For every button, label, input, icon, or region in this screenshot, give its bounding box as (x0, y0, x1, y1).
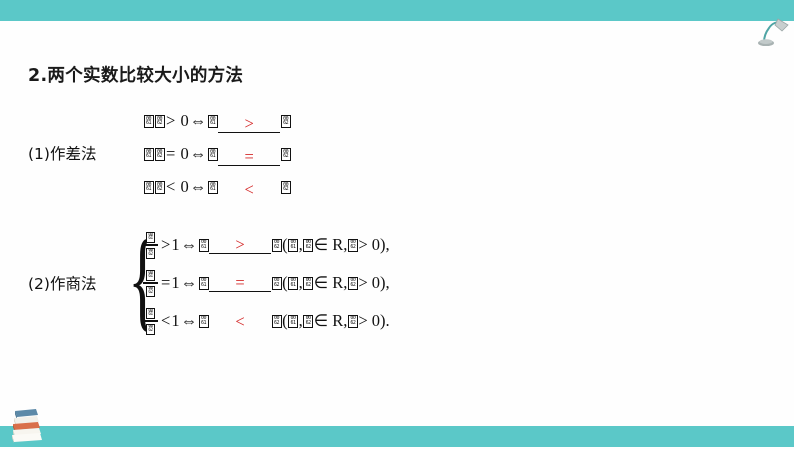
comma: , (343, 264, 347, 302)
relation-operator: < (166, 177, 175, 196)
comma: , (343, 302, 347, 340)
variable-glyph-b (146, 248, 155, 259)
rhs-value: 1 (171, 226, 179, 264)
variable-glyph-b (155, 148, 165, 161)
rhs-value: 1 (171, 264, 179, 302)
variable-glyph-b (146, 286, 155, 297)
variable-glyph-b (146, 324, 155, 335)
paren-open: ( (282, 264, 288, 302)
iff-operator: ⇔ (181, 302, 198, 340)
set-reals: R (332, 264, 343, 302)
rhs-value: 0 (180, 144, 188, 163)
iff-operator: ⇔ (190, 144, 207, 163)
comma: , (299, 264, 303, 302)
variable-glyph-a (288, 239, 298, 252)
formula-row: < 0⇔< (143, 176, 291, 209)
fraction-a-over-b (143, 307, 158, 335)
comma: , (299, 302, 303, 340)
fraction-rule (143, 282, 158, 284)
section-label-difference-method: (1)作差法 (28, 142, 96, 164)
formula-row: > 0⇔> (143, 110, 291, 143)
variable-glyph-b (272, 315, 282, 328)
variable-glyph-b (281, 115, 291, 128)
punctuation: . (386, 302, 390, 340)
variable-glyph-a (199, 239, 209, 252)
rhs-value: 0 (180, 177, 188, 196)
relation-operator: > (358, 226, 367, 264)
answer-blank[interactable]: = (209, 274, 271, 292)
variable-glyph-b (155, 115, 165, 128)
desk-lamp-icon (756, 6, 790, 46)
variable-glyph-a (144, 115, 154, 128)
fraction-a-over-b (143, 231, 158, 259)
stacked-books-icon (8, 402, 50, 444)
variable-glyph-b (272, 239, 282, 252)
member-symbol: ∈ (314, 302, 328, 340)
relation-operator: > (358, 302, 367, 340)
iff-operator: ⇔ (181, 264, 198, 302)
variable-glyph-a (146, 232, 155, 243)
punctuation: , (386, 264, 390, 302)
variable-glyph-b (303, 239, 313, 252)
fraction-rule (143, 320, 158, 322)
iff-operator: ⇔ (190, 111, 207, 130)
comma: , (343, 226, 347, 264)
variable-glyph-b (303, 315, 313, 328)
zero-value: 0 (372, 226, 380, 264)
relation-operator: > (166, 111, 175, 130)
variable-glyph-a (146, 270, 155, 281)
variable-glyph-b (155, 181, 165, 194)
rhs-value: 1 (171, 302, 179, 340)
answer-blank[interactable]: > (209, 236, 271, 254)
paren-open: ( (282, 302, 288, 340)
fraction-a-over-b (143, 269, 158, 297)
variable-glyph-a (144, 181, 154, 194)
formula-row: = 1⇔=(,∈ R,> 0), (143, 264, 390, 302)
variable-glyph-a (208, 148, 218, 161)
iff-operator: ⇔ (190, 177, 207, 196)
variable-glyph-b (272, 277, 282, 290)
iff-operator: ⇔ (181, 226, 198, 264)
answer-blank[interactable]: < (209, 313, 271, 330)
variable-glyph-a (288, 315, 298, 328)
comma: , (299, 226, 303, 264)
zero-value: 0 (372, 302, 380, 340)
set-reals: R (332, 226, 343, 264)
member-symbol: ∈ (314, 226, 328, 264)
variable-glyph-a (199, 277, 209, 290)
variable-glyph-a (208, 115, 218, 128)
section-label-quotient-method: (2)作商法 (28, 272, 96, 294)
member-symbol: ∈ (314, 264, 328, 302)
set-reals: R (332, 302, 343, 340)
answer-blank[interactable]: = (218, 148, 280, 166)
paren-open: ( (282, 226, 288, 264)
formula-row: > 1⇔>(,∈ R,> 0), (143, 226, 390, 264)
variable-glyph-b (281, 181, 291, 194)
variable-glyph-a (288, 277, 298, 290)
zero-value: 0 (372, 264, 380, 302)
page-title: 2.两个实数比较大小的方法 (28, 62, 243, 87)
variable-glyph-b (348, 315, 358, 328)
answer-blank[interactable]: > (218, 115, 280, 133)
variable-glyph-a (199, 315, 209, 328)
formula-row: = 0⇔= (143, 143, 291, 176)
variable-glyph-b (303, 277, 313, 290)
variable-glyph-b (281, 148, 291, 161)
punctuation: , (386, 226, 390, 264)
relation-operator: = (166, 144, 175, 163)
quotient-method-rows: > 1⇔>(,∈ R,> 0), = 1⇔=(,∈ R,> 0), < 1⇔<(… (143, 226, 390, 340)
relation-operator: < (161, 302, 170, 340)
answer-blank[interactable]: < (218, 181, 280, 198)
difference-method-rows: > 0⇔> = 0⇔= < 0⇔< (143, 110, 291, 209)
variable-glyph-a (144, 148, 154, 161)
variable-glyph-a (146, 308, 155, 319)
variable-glyph-b (348, 277, 358, 290)
relation-operator: > (358, 264, 367, 302)
fraction-rule (143, 244, 158, 246)
relation-operator: = (161, 264, 170, 302)
formula-row: < 1⇔<(,∈ R,> 0). (143, 302, 390, 340)
relation-operator: > (161, 226, 170, 264)
bottom-accent-bar (0, 426, 794, 447)
top-accent-bar (0, 0, 794, 21)
rhs-value: 0 (180, 111, 188, 130)
variable-glyph-b (348, 239, 358, 252)
variable-glyph-a (208, 181, 218, 194)
